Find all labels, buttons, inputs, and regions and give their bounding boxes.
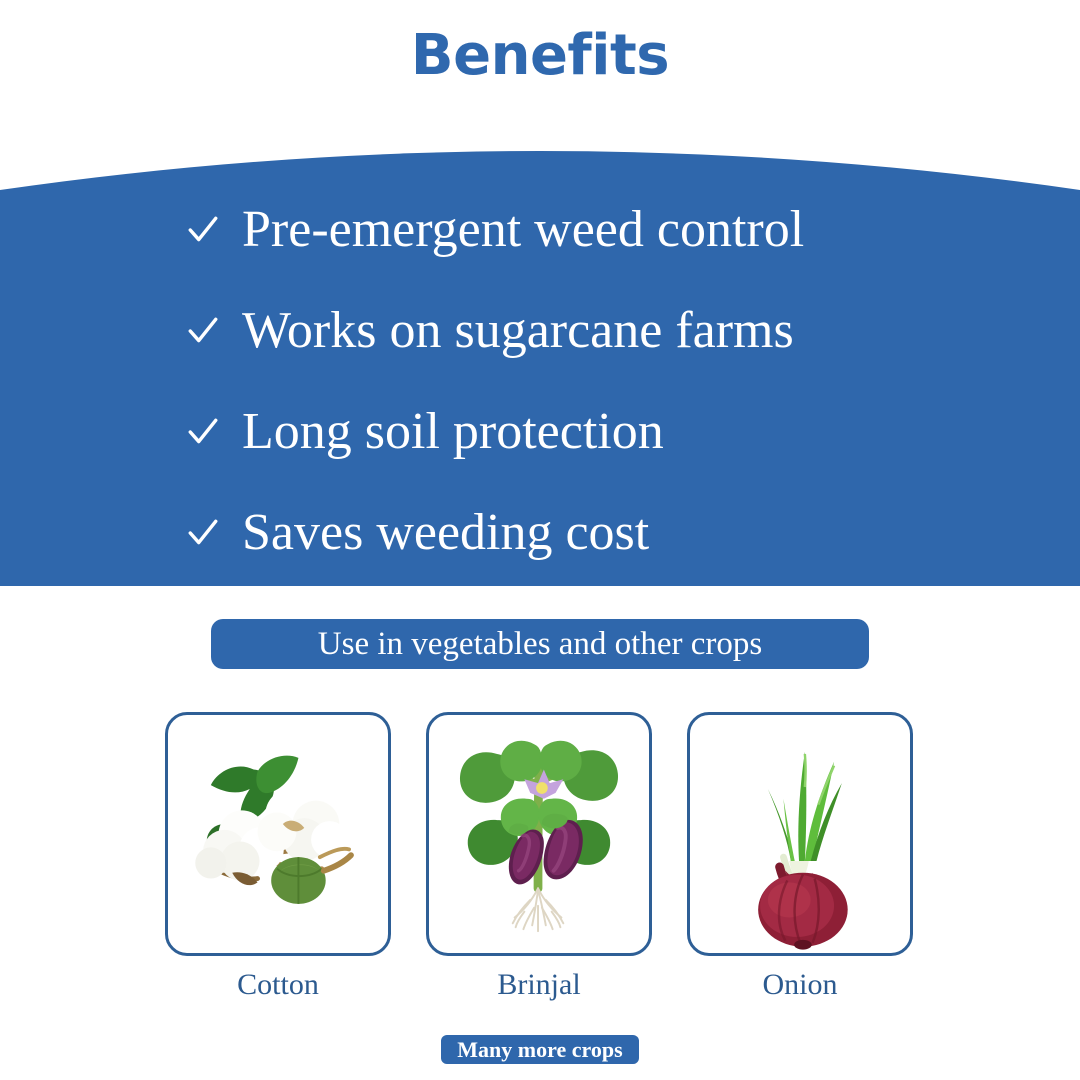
list-item: Pre-emergent weed control — [186, 196, 1046, 264]
use-in-crops-badge: Use in vegetables and other crops — [211, 619, 869, 669]
benefit-label: Long soil protection — [242, 405, 664, 460]
crop-cell-brinjal[interactable]: Brinjal — [426, 712, 652, 1012]
cotton-bolls-illustration-icon — [168, 715, 388, 953]
crop-card[interactable] — [687, 712, 913, 956]
list-item: Works on sugarcane farms — [186, 297, 1046, 365]
check-icon — [186, 314, 220, 348]
benefit-label: Works on sugarcane farms — [242, 304, 794, 359]
crop-card-row: Cotton — [0, 712, 1080, 1012]
list-item: Saves weeding cost — [186, 499, 1046, 567]
crop-cell-cotton[interactable]: Cotton — [165, 712, 391, 1012]
crop-card[interactable] — [165, 712, 391, 956]
check-icon — [186, 516, 220, 550]
benefit-label: Pre-emergent weed control — [242, 203, 804, 258]
benefit-label: Saves weeding cost — [242, 506, 649, 561]
use-in-crops-label: Use in vegetables and other crops — [318, 628, 762, 661]
red-onion-illustration-icon — [690, 715, 910, 953]
list-item: Long soil protection — [186, 398, 1046, 466]
page-title: Benefits — [0, 28, 1080, 84]
crop-card[interactable] — [426, 712, 652, 956]
crop-label: Brinjal — [426, 970, 652, 1000]
many-more-crops-badge: Many more crops — [441, 1035, 639, 1064]
crop-label: Onion — [687, 970, 913, 1000]
many-more-crops-label: Many more crops — [457, 1039, 622, 1061]
check-icon — [186, 415, 220, 449]
benefits-list: Pre-emergent weed control Works on sugar… — [0, 190, 1080, 586]
crop-cell-onion[interactable]: Onion — [687, 712, 913, 1012]
brinjal-plant-illustration-icon — [429, 715, 649, 953]
crop-label: Cotton — [165, 970, 391, 1000]
benefits-poster: Benefits Pre-emergent weed control Works… — [0, 0, 1080, 1080]
check-icon — [186, 213, 220, 247]
